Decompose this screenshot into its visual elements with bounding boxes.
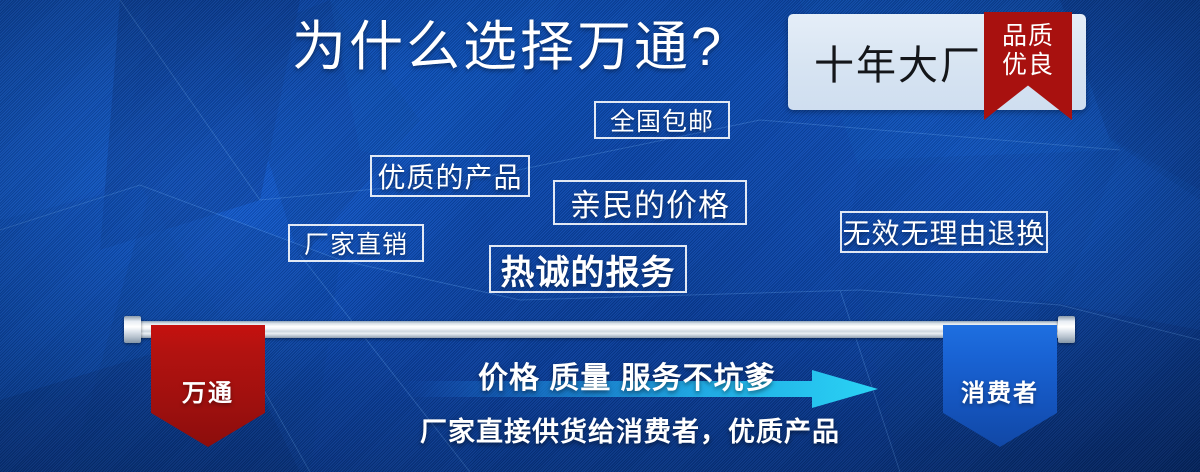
feature-tag-sincere-service: 热诚的报务 (489, 245, 687, 293)
quality-badge: 十年大厂 品质 优良 (788, 14, 1086, 110)
slogan-primary: 价格 质量 服务不坑爹 (478, 353, 776, 397)
page-title: 为什么选择万通? (292, 16, 724, 80)
ribbon-line-1: 品质 (1002, 22, 1054, 51)
rod-cap-right (1058, 316, 1075, 343)
slogan-secondary: 厂家直接供货给消费者，优质产品 (420, 410, 840, 449)
feature-tag-free-return: 无效无理由退换 (840, 211, 1048, 253)
feature-tag-nationwide-shipping: 全国包邮 (594, 101, 730, 139)
feature-tag-factory-direct: 厂家直销 (288, 224, 424, 262)
feature-tag-quality-product: 优质的产品 (370, 155, 530, 197)
rod-cap-left (124, 316, 141, 343)
badge-label: 十年大厂 (814, 33, 982, 91)
hanging-rod (133, 321, 1071, 338)
feature-tag-fair-price: 亲民的价格 (553, 180, 747, 225)
flow-target-label: 消费者 (961, 373, 1039, 408)
flow-source-label: 万通 (182, 373, 234, 408)
quality-ribbon: 品质 优良 (984, 12, 1072, 120)
promotional-banner: 为什么选择万通? 十年大厂 品质 优良 全国包邮 优质的产品 亲民的价格 厂家直… (0, 0, 1200, 472)
ribbon-line-2: 优良 (1002, 51, 1054, 80)
